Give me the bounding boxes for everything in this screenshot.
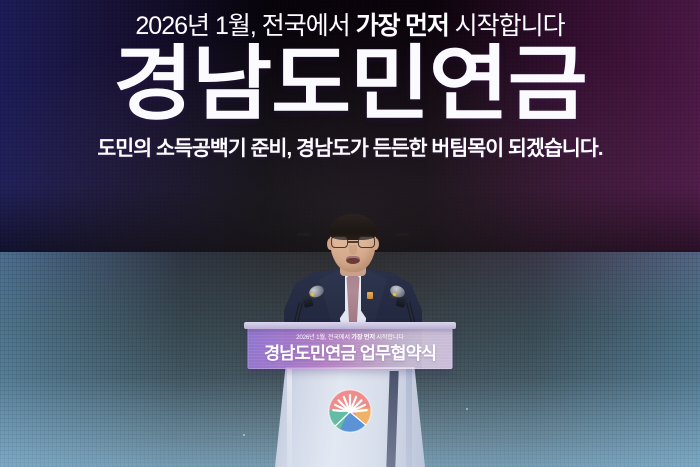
- speaker-mouth: [346, 256, 360, 264]
- speaker-eyebrow-left: [297, 233, 311, 236]
- speaker-eyebrow-right: [395, 233, 409, 236]
- backdrop-subtitle: 도민의 소득공백기 준비, 경남도가 든든한 버팀목이 되겠습니다.: [0, 139, 700, 160]
- backdrop-tagline-suffix: 시작합니다: [449, 12, 565, 40]
- speaker-nose: [349, 245, 357, 255]
- stage-scene: 2026년 1월, 전국에서 가장 먼저 시작합니다 경남도민연금 도민의 소득…: [0, 0, 700, 467]
- gyeongnam-province-emblem-icon: [328, 389, 372, 433]
- backdrop-main-title: 경남도민연금: [0, 45, 700, 125]
- podium-sign-tagline-emphasis: 가장 먼저: [351, 334, 375, 341]
- backdrop-banner: 2026년 1월, 전국에서 가장 먼저 시작합니다 경남도민연금 도민의 소득…: [0, 0, 700, 160]
- backdrop-tagline: 2026년 1월, 전국에서 가장 먼저 시작합니다: [0, 14, 700, 39]
- podium-sign-tagline: 2026년 1월, 전국에서 가장 먼저 시작합니다: [296, 335, 404, 341]
- microphone-indicator-led: [393, 293, 396, 296]
- backdrop-tagline-prefix: 2026년 1월, 전국에서: [135, 12, 355, 40]
- speaker-lapel-pin: [367, 292, 373, 299]
- podium: 2026년 1월, 전국에서 가장 먼저 시작합니다 경남도민연금 업무협약식: [0, 307, 700, 467]
- podium-sign-banner: 2026년 1월, 전국에서 가장 먼저 시작합니다 경남도민연금 업무협약식: [248, 328, 453, 369]
- microphone-indicator-led: [311, 293, 314, 296]
- backdrop-tagline-emphasis: 가장 먼저: [356, 12, 449, 40]
- podium-sign-tagline-prefix: 2026년 1월, 전국에서: [296, 334, 351, 341]
- podium-sign-tagline-suffix: 시작합니다: [375, 334, 404, 341]
- podium-top-surface: [244, 322, 456, 329]
- podium-sign-title: 경남도민연금 업무협약식: [264, 345, 436, 362]
